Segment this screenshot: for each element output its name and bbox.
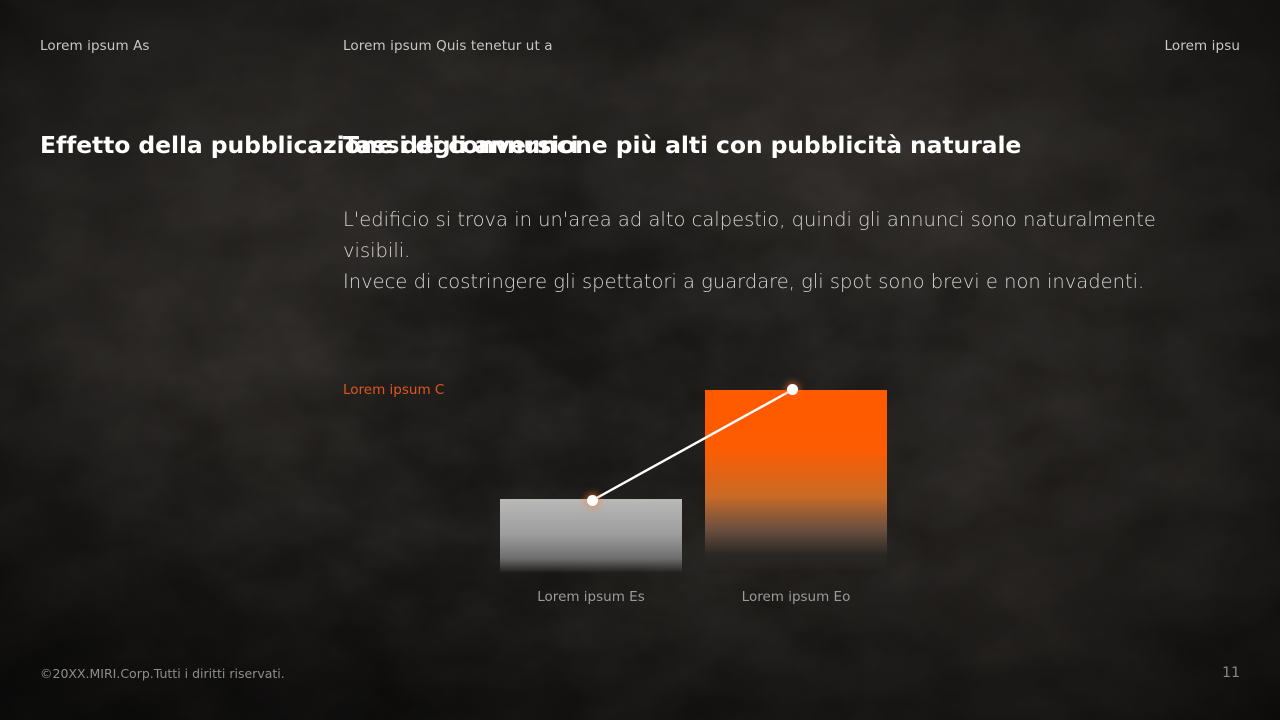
footer-copyright: ©20XX.MIRI.Corp.Tutti i diritti riservat… xyxy=(40,666,285,681)
slide-title-group: Effetto della pubblicazione degli annunc… xyxy=(0,131,1280,165)
page-title-secondary: Tassi di conversione più alti con pubbli… xyxy=(343,131,1021,159)
background-texture xyxy=(0,0,1280,720)
header-left-label: Lorem ipsum As xyxy=(40,38,150,54)
slide-header: Lorem ipsum As Lorem ipsum Quis tenetur … xyxy=(0,38,1280,58)
presentation-slide: Lorem ipsum As Lorem ipsum Quis tenetur … xyxy=(0,0,1280,720)
header-center-label: Lorem ipsum Quis tenetur ut a xyxy=(343,38,553,54)
body-paragraph: L'edificio si trova in un'area ad alto c… xyxy=(343,204,1223,297)
body-line-2: Invece di costringere gli spettatori a g… xyxy=(343,266,1223,297)
page-number: 11 xyxy=(1222,665,1240,681)
header-right-label: Lorem ipsu xyxy=(1165,38,1240,54)
body-line-1: L'edificio si trova in un'area ad alto c… xyxy=(343,204,1223,266)
